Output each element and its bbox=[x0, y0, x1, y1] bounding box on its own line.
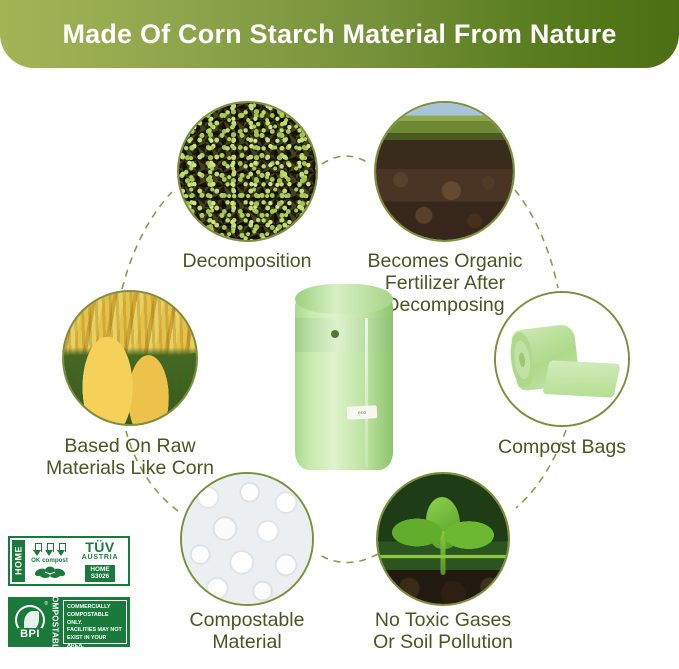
connector-top bbox=[322, 156, 370, 164]
bag-tail-shape bbox=[543, 360, 621, 398]
sprout-leaves-icon bbox=[33, 565, 67, 578]
feature-node-fertilizer: Becomes Organic Fertilizer After Decompo… bbox=[374, 101, 515, 242]
header-banner: Made Of Corn Starch Material From Nature bbox=[0, 0, 679, 68]
fertilizer-circle bbox=[374, 101, 515, 242]
product-roll-seam bbox=[365, 318, 368, 468]
soil-cross-section-image bbox=[376, 103, 513, 240]
bag-roll-image bbox=[496, 293, 628, 425]
tuv-ok-compost-graphic: OK compost bbox=[25, 540, 74, 582]
decomposition-circle bbox=[177, 101, 318, 242]
no-toxic-gases-circle bbox=[376, 472, 510, 606]
soil-speckles-image bbox=[179, 103, 316, 240]
tuv-home-vertical-text: HOME bbox=[12, 540, 25, 582]
bpi-compostable-badge: BPI ® COMPOSTABLE COMMERCIALLY COMPOSTAB… bbox=[8, 597, 130, 647]
registered-mark-icon: ® bbox=[44, 601, 48, 607]
center-product-image: eco bbox=[295, 284, 393, 470]
tuv-brand-text: TÜV bbox=[85, 540, 115, 554]
bpi-logo-text: BPI bbox=[18, 628, 42, 640]
product-roll-band bbox=[295, 318, 393, 352]
down-arrows-icon bbox=[33, 543, 66, 556]
no-toxic-gases-label: No Toxic Gases Or Soil Pollution bbox=[313, 610, 573, 654]
resin-pellets-image bbox=[182, 474, 312, 604]
bpi-disclaimer-text: COMMERCIALLY COMPOSTABLE ONLY. FACILITIE… bbox=[63, 600, 127, 644]
feature-node-compostable-material: Compostable Material bbox=[180, 472, 314, 606]
seedling-soil-image bbox=[378, 474, 508, 604]
tuv-region-text: AUSTRIA bbox=[82, 554, 119, 562]
connector-bottom bbox=[318, 554, 378, 563]
bpi-logo: BPI ® bbox=[11, 600, 49, 644]
compostable-material-circle bbox=[180, 472, 314, 606]
compost-bags-label: Compost Bags bbox=[432, 437, 679, 459]
corn-circle bbox=[62, 290, 198, 426]
bpi-compostable-vertical-text: COMPOSTABLE bbox=[49, 600, 61, 644]
product-sticker: eco bbox=[347, 405, 378, 420]
ok-compost-text: OK compost bbox=[31, 557, 68, 564]
corn-cobs-image bbox=[64, 292, 196, 424]
compost-bags-circle bbox=[494, 291, 630, 427]
feature-node-decomposition: Decomposition bbox=[177, 101, 318, 242]
tuv-austria-home-compost-badge: HOME OK compost bbox=[8, 536, 130, 586]
page-title: Made Of Corn Starch Material From Nature bbox=[22, 20, 656, 49]
feature-node-corn: Based On Raw Materials Like Corn bbox=[62, 290, 198, 426]
connector-left-top bbox=[122, 192, 172, 289]
certification-badges: HOME OK compost bbox=[8, 536, 136, 647]
product-roll-dot bbox=[331, 330, 339, 338]
product-roll-top bbox=[295, 284, 393, 314]
seedling-stem bbox=[441, 531, 446, 575]
tuv-brand-panel: TÜV AUSTRIA HOME S3026 bbox=[74, 540, 126, 582]
tuv-cert-number: HOME S3026 bbox=[85, 565, 114, 582]
feature-node-no-toxic-gases: No Toxic Gases Or Soil Pollution bbox=[376, 472, 510, 606]
tuv-ok-compost-panel: HOME OK compost bbox=[12, 540, 74, 582]
feature-node-compost-bags: Compost Bags bbox=[494, 291, 630, 427]
